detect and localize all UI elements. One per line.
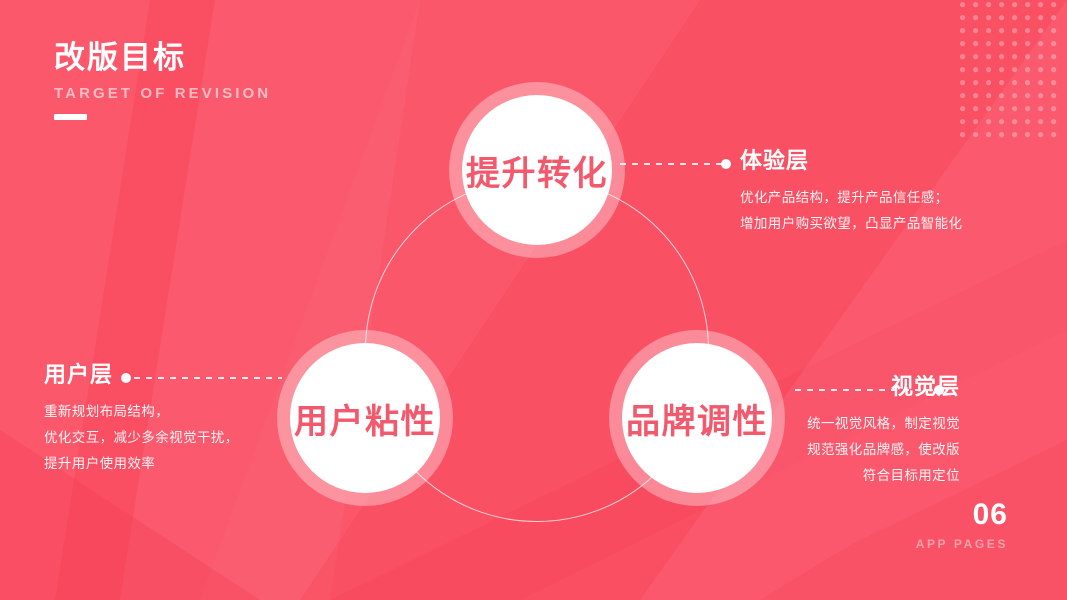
callout-line: 提升用户使用效率 — [44, 451, 239, 477]
callout-heading-visual: 视觉层 — [807, 374, 960, 400]
circle-node-improve-conversion[interactable]: 提升转化 — [462, 95, 612, 245]
circle-label-left: 用户粘性 — [294, 394, 436, 443]
slide-header: 改版目标 TARGET OF REVISION — [54, 40, 271, 120]
callout-line: 增加用户购买欲望，凸显产品智能化 — [740, 211, 962, 237]
connector-line-top — [620, 163, 730, 165]
circle-label-top: 提升转化 — [466, 146, 608, 195]
callout-heading-experience: 体验层 — [740, 148, 962, 174]
dot-grid-decoration — [960, 2, 1064, 138]
callout-line: 符合目标用定位 — [807, 463, 960, 489]
slide-canvas: 改版目标 TARGET OF REVISION 提升转化 用户粘性 品牌调性 体… — [0, 0, 1067, 600]
callout-body-experience: 优化产品结构，提升产品信任感； 增加用户购买欲望，凸显产品智能化 — [740, 185, 962, 237]
callout-body-visual: 统一视觉风格，制定视觉 规范强化品牌感，使改版 符合目标用定位 — [807, 411, 960, 489]
page-number: 06 — [916, 500, 1008, 530]
callout-user-layer: 用户层 重新规划布局结构， 优化交互，减少多余视觉干扰， 提升用户使用效率 — [44, 362, 239, 477]
connector-dot-top — [721, 159, 731, 169]
callout-line: 重新规划布局结构， — [44, 399, 239, 425]
title-underline-rule — [54, 114, 87, 120]
page-section-label: APP PAGES — [916, 537, 1008, 551]
callout-line: 优化交互，减少多余视觉干扰， — [44, 425, 239, 451]
circle-node-user-stickiness[interactable]: 用户粘性 — [290, 343, 440, 493]
callout-heading-user: 用户层 — [44, 362, 239, 388]
callout-body-user: 重新规划布局结构， 优化交互，减少多余视觉干扰， 提升用户使用效率 — [44, 399, 239, 477]
connector-dash-top — [620, 163, 730, 165]
callout-line: 优化产品结构，提升产品信任感； — [740, 185, 962, 211]
callout-line: 统一视觉风格，制定视觉 — [807, 411, 960, 437]
callout-experience-layer: 体验层 优化产品结构，提升产品信任感； 增加用户购买欲望，凸显产品智能化 — [740, 148, 962, 237]
page-subtitle: TARGET OF REVISION — [54, 85, 271, 102]
page-title: 改版目标 — [54, 40, 271, 76]
circle-node-brand-tone[interactable]: 品牌调性 — [622, 343, 772, 493]
page-number-block: 06 APP PAGES — [916, 500, 1008, 551]
callout-visual-layer: 视觉层 统一视觉风格，制定视觉 规范强化品牌感，使改版 符合目标用定位 — [807, 374, 960, 489]
callout-line: 规范强化品牌感，使改版 — [807, 437, 960, 463]
circle-label-right: 品牌调性 — [626, 394, 768, 443]
